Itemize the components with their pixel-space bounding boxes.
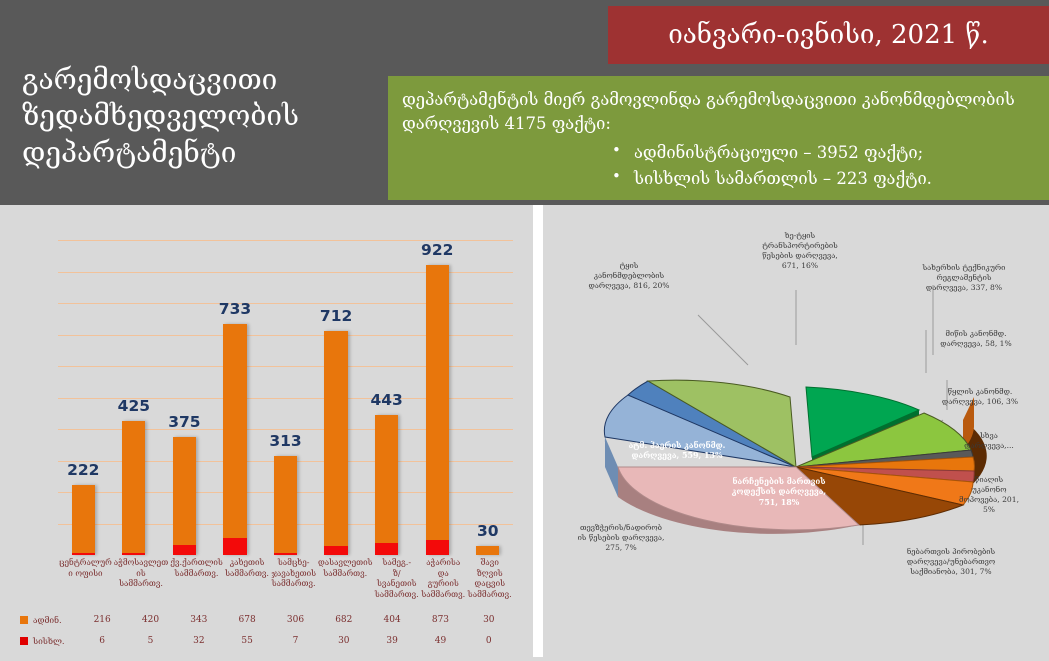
bar-column[interactable]: 425: [109, 240, 160, 555]
pie-label-air: ატმ. ჰაერის კანონმდ.დარღვევა, 559, 13%: [605, 441, 749, 462]
bar-column[interactable]: 222: [58, 240, 109, 555]
table-cell-criminal: 55: [223, 636, 271, 646]
period-label: იანვარი-ივნისი, 2021 წ.: [668, 20, 989, 50]
bar-total-label: 375: [159, 413, 210, 431]
summary-bullet-administrative: ადმინისტრაციული – 3952 ფაქტი;: [608, 140, 1038, 166]
bar-segment-admin[interactable]: [173, 437, 196, 545]
bar-column[interactable]: 313: [260, 240, 311, 555]
bar-total-label: 922: [412, 241, 463, 259]
bar-segment-criminal[interactable]: [324, 546, 347, 555]
bar-segment-admin[interactable]: [426, 265, 449, 540]
period-banner: იანვარი-ივნისი, 2021 წ.: [608, 6, 1049, 64]
bar-segment-admin[interactable]: [274, 456, 297, 552]
bar-segment-admin[interactable]: [72, 485, 95, 553]
table-cell-criminal: 7: [271, 636, 319, 646]
bar-category-label: სამეგ.-ზ/სვანეთისსამმართვ.: [374, 557, 420, 609]
bar-segment-admin[interactable]: [122, 421, 145, 553]
pie-label-fishing: თევზჭერის/ნადირობის წესების დარღვევა,275…: [553, 523, 689, 553]
panel-divider: [533, 205, 543, 657]
bar-segment-criminal[interactable]: [274, 553, 297, 555]
bar-plot-area: 22242537573331371244392230: [58, 240, 513, 555]
summary-bullet-criminal: სისხლის სამართლის – 223 ფაქტი.: [608, 166, 1038, 192]
table-cell-criminal: 5: [126, 636, 174, 646]
table-cell-admin: 306: [271, 615, 319, 625]
bar-category-label: დასავლეთისსამმართვ.: [317, 557, 374, 609]
bar-total-label: 222: [58, 461, 109, 479]
table-cell-criminal: 49: [416, 636, 464, 646]
legend-swatch-admin-icon: [20, 616, 28, 624]
bar-category-label: შავი ზღვისდაცვისსამმართვ.: [467, 557, 513, 609]
bar-category-label: ქვ.ქართლისსამმართვ.: [169, 557, 224, 609]
legend-label-admin: ადმინ.: [33, 615, 62, 625]
table-values-admin: 21642034367830668240487330: [78, 615, 513, 625]
bar-series: 22242537573331371244392230: [58, 240, 513, 555]
bar-segment-admin[interactable]: [375, 415, 398, 542]
pie-chart-panel: ტყისკანონმდებლობისდარღვევა, 816, 20% ხე-…: [543, 205, 1049, 657]
table-cell-criminal: 0: [465, 636, 513, 646]
stacked-bar[interactable]: [173, 437, 196, 555]
table-cell-criminal: 30: [320, 636, 368, 646]
bar-category-label: აჭარისა დაგურიისსამმართვ.: [420, 557, 466, 609]
table-cell-admin: 682: [320, 615, 368, 625]
bar-segment-criminal[interactable]: [72, 553, 95, 555]
table-row: ადმინ. 21642034367830668240487330: [12, 609, 513, 630]
bar-category-label: ცენტრალური ოფისი: [58, 557, 113, 609]
slide: გარემოსდაცვითი ზედამხედველობის დეპარტამე…: [0, 0, 1049, 657]
bar-column[interactable]: 375: [159, 240, 210, 555]
bar-segment-admin[interactable]: [476, 546, 499, 555]
bar-total-label: 30: [463, 522, 514, 540]
bar-category-axis: ცენტრალური ოფისიაჭმოსავლეთის სამმართვ.ქვ…: [58, 557, 513, 609]
pie-label-land: მიწის კანონმდ.დარღვევა, 58, 1%: [913, 329, 1039, 349]
table-cell-admin: 873: [416, 615, 464, 625]
pie-label-sawmill: სახერხის ტექნიკურირეგლამენტისდარღვევა, 3…: [893, 263, 1035, 293]
bar-chart-panel: 22242537573331371244392230 ცენტრალური ოფ…: [0, 205, 533, 657]
table-cell-admin: 678: [223, 615, 271, 625]
stacked-bar[interactable]: [223, 324, 246, 555]
table-values-criminal: 65325573039490: [78, 636, 513, 646]
bar-column[interactable]: 922: [412, 240, 463, 555]
stacked-bar[interactable]: [476, 546, 499, 555]
legend-item-admin: ადმინ.: [12, 615, 78, 625]
bar-segment-admin[interactable]: [324, 331, 347, 546]
pie-label-water: წყლის კანონმდ.დარღვევა, 106, 3%: [919, 387, 1041, 407]
bar-total-label: 712: [311, 307, 362, 325]
stacked-bar[interactable]: [274, 456, 297, 555]
pie-plot-area: ტყისკანონმდებლობისდარღვევა, 816, 20% ხე-…: [543, 205, 1049, 657]
pie-label-other: სხვადარღვევა,...: [939, 431, 1039, 451]
bar-segment-criminal[interactable]: [173, 545, 196, 555]
bar-total-label: 425: [109, 397, 160, 415]
stacked-bar[interactable]: [72, 485, 95, 555]
bar-segment-criminal[interactable]: [375, 543, 398, 555]
bar-column[interactable]: 712: [311, 240, 362, 555]
pie-label-waste: ნარჩენების მართვისკოდექსის დარღვევა,751,…: [709, 477, 849, 508]
summary-box: დეპარტამენტის მიერ გამოვლინდა გარემოსდაც…: [388, 76, 1049, 200]
table-cell-criminal: 6: [78, 636, 126, 646]
bar-segment-admin[interactable]: [223, 324, 246, 538]
pie-label-mining: წიაღისუკანონომოპოვება, 201,5%: [941, 475, 1037, 515]
bar-total-label: 443: [361, 391, 412, 409]
bar-total-label: 313: [260, 432, 311, 450]
stacked-bar[interactable]: [324, 331, 347, 555]
pie-label-forest: ტყისკანონმდებლობისდარღვევა, 816, 20%: [549, 261, 709, 291]
bar-segment-criminal[interactable]: [122, 553, 145, 555]
legend-swatch-criminal-icon: [20, 637, 28, 645]
table-cell-admin: 404: [368, 615, 416, 625]
bar-category-label: აჭმოსავლეთის სამმართვ.: [113, 557, 169, 609]
bar-column[interactable]: 443: [361, 240, 412, 555]
pie-label-transport: ხე-ტყისტრანსპორტირებისწესების დარღვევა,6…: [741, 231, 859, 271]
bar-category-label: სამცხე-ჯავახეთისსამმართვ.: [270, 557, 317, 609]
summary-lead: დეპარტამენტის მიერ გამოვლინდა გარემოსდაც…: [402, 88, 1032, 136]
bar-segment-criminal[interactable]: [426, 540, 449, 555]
table-cell-criminal: 39: [368, 636, 416, 646]
table-cell-admin: 30: [465, 615, 513, 625]
table-cell-admin: 420: [126, 615, 174, 625]
stacked-bar[interactable]: [375, 415, 398, 555]
stacked-bar[interactable]: [122, 421, 145, 555]
legend-item-criminal: სისხლ.: [12, 636, 78, 646]
pie-label-permit: ნებართვის პირობებისდარღვევა/უნებართვოსაქ…: [863, 547, 1039, 577]
bar-segment-criminal[interactable]: [223, 538, 246, 555]
bar-data-table: ადმინ. 21642034367830668240487330 სისხლ.…: [12, 609, 513, 651]
page-title: გარემოსდაცვითი ზედამხედველობის დეპარტამე…: [22, 62, 382, 171]
stacked-bar[interactable]: [426, 265, 449, 555]
table-row: სისხლ. 65325573039490: [12, 630, 513, 651]
bar-category-label: კახეთისსამმართვ.: [224, 557, 270, 609]
table-cell-criminal: 32: [175, 636, 223, 646]
legend-label-criminal: სისხლ.: [33, 636, 65, 646]
table-cell-admin: 216: [78, 615, 126, 625]
bar-total-label: 733: [210, 300, 261, 318]
summary-bullet-list: ადმინისტრაციული – 3952 ფაქტი; სისხლის სა…: [608, 140, 1038, 191]
bar-column[interactable]: 733: [210, 240, 261, 555]
bar-column[interactable]: 30: [463, 240, 514, 555]
table-cell-admin: 343: [175, 615, 223, 625]
